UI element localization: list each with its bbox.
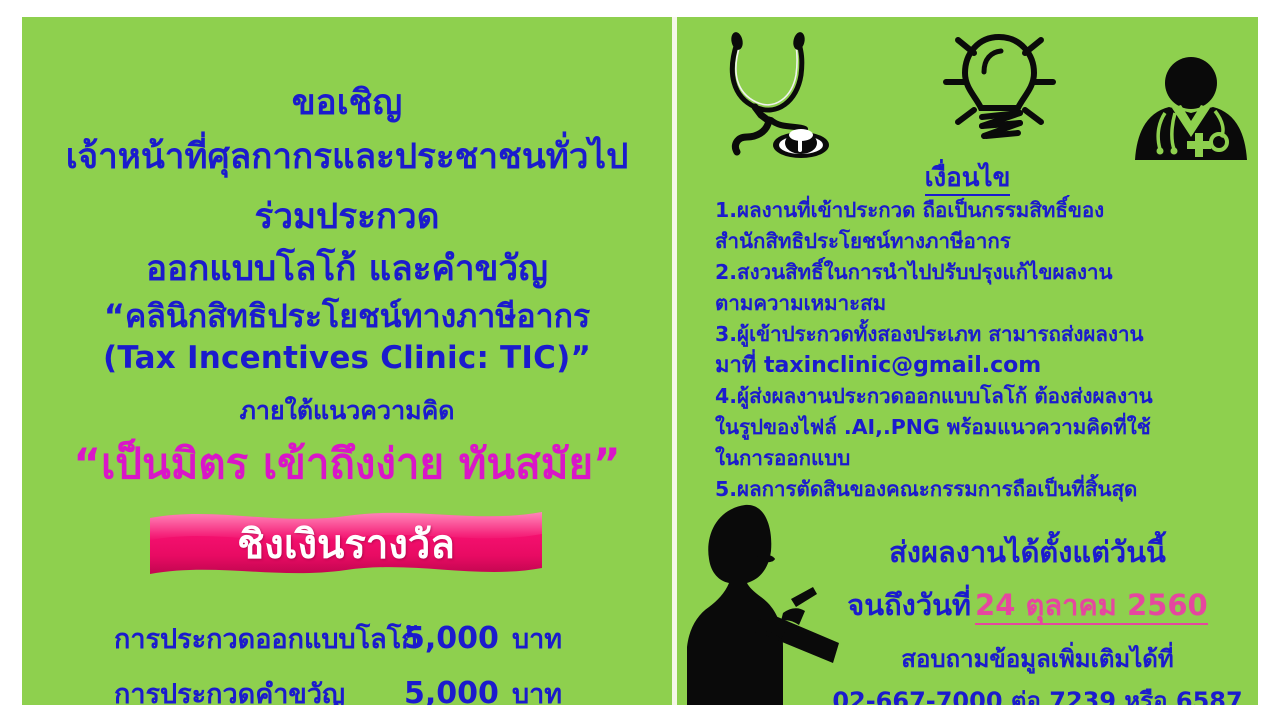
lightbulb-icon	[932, 22, 1067, 157]
prize-ribbon-label: ชิงเงินรางวัล	[146, 504, 546, 584]
stethoscope-icon	[719, 25, 839, 160]
conditions-heading-text: เงื่อนไข	[925, 163, 1011, 196]
prize-amount: 5,000	[404, 676, 512, 705]
condition-line: สำนักสิทธิประโยชน์ทางภาษีอากร	[715, 226, 1245, 257]
doctor-avatar-icon	[1129, 55, 1254, 165]
contact-phone: 02-667-7000 ต่อ 7239 หรือ 6587	[817, 681, 1258, 705]
prize-unit: บาท	[512, 617, 562, 660]
condition-line-formats: ในรูปของไฟล์ .AI,.PNG พร้อมแนวความคิดที่…	[715, 412, 1245, 443]
condition-line: 2.สงวนสิทธิ์ในการนำไปปรับปรุงแก้ไขผลงาน	[715, 257, 1245, 288]
invite-title: ขอเชิญ	[22, 75, 672, 130]
prize-unit: บาท	[512, 672, 562, 705]
prize-name: การประกวดออกแบบโลโก้	[114, 617, 404, 660]
poster-canvas: ขอเชิญ เจ้าหน้าที่ศุลกากรและประชาชนทั่วไ…	[22, 17, 1258, 705]
deadline-prefix: จนถึงวันที่	[847, 588, 971, 622]
concept-label: ภายใต้แนวความคิด	[22, 391, 672, 431]
conditions-list: 1.ผลงานที่เข้าประกวด ถือเป็นกรรมสิทธิ์ขอ…	[715, 195, 1245, 505]
slogan-text: “เป็นมิตร เข้าถึงง่าย ทันสมัย”	[22, 431, 672, 497]
join-contest-line: ร่วมประกวด	[22, 189, 672, 244]
left-panel: ขอเชิญ เจ้าหน้าที่ศุลกากรและประชาชนทั่วไ…	[22, 17, 672, 705]
contact-label: สอบถามข้อมูลเพิ่มเติมได้ที่	[817, 639, 1258, 678]
condition-line: 3.ผู้เข้าประกวดทั้งสองประเภท สามารถส่งผล…	[715, 319, 1245, 350]
prize-row: การประกวดออกแบบโลโก้5,000บาท	[114, 617, 614, 660]
condition-line-email: มาที่ taxinclinic@gmail.com	[715, 350, 1245, 381]
deadline-date: 24 ตุลาคม 2560	[975, 588, 1208, 625]
deadline-line-1: ส่งผลงานได้ตั้งแต่วันนี้	[797, 529, 1258, 575]
clinic-name-english: (Tax Incentives Clinic: TIC)”	[22, 340, 672, 376]
condition-line: ในการออกแบบ	[715, 443, 1245, 474]
design-category-line: ออกแบบโลโก้ และคำขวัญ	[22, 241, 672, 296]
prize-ribbon: ชิงเงินรางวัล	[146, 504, 546, 584]
condition-line: 1.ผลงานที่เข้าประกวด ถือเป็นกรรมสิทธิ์ขอ…	[715, 195, 1245, 226]
deadline-line-2: จนถึงวันที่24 ตุลาคม 2560	[797, 582, 1258, 628]
prize-amount: 5,000	[404, 621, 512, 656]
conditions-heading: เงื่อนไข	[677, 157, 1258, 198]
prize-name: การประกวดคำขวัญ	[114, 672, 404, 705]
clinic-name-thai: “คลินิกสิทธิประโยชน์ทางภาษีอากร	[22, 291, 672, 342]
condition-line: ตามความเหมาะสม	[715, 288, 1245, 319]
right-panel: เงื่อนไข 1.ผลงานที่เข้าประกวด ถือเป็นกรร…	[677, 17, 1258, 705]
prize-row: การประกวดคำขวัญ5,000บาท	[114, 672, 614, 705]
condition-line: 4.ผู้ส่งผลงานประกวดออกแบบโลโก้ ต้องส่งผล…	[715, 381, 1245, 412]
audience-line: เจ้าหน้าที่ศุลกากรและประชาชนทั่วไป	[22, 129, 672, 184]
